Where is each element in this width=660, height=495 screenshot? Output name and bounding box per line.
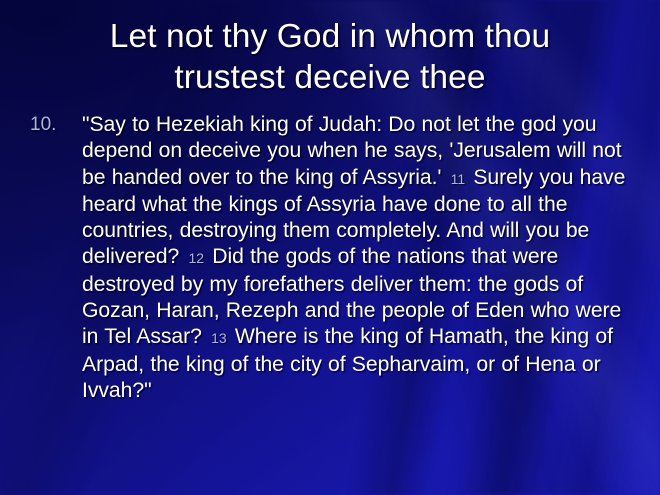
verse-number: 12 bbox=[186, 250, 206, 266]
verse-number: 13 bbox=[208, 330, 228, 346]
scripture-paragraph: "Say to Hezekiah king of Judah: Do not l… bbox=[82, 112, 634, 404]
verse-number: 11 bbox=[448, 171, 467, 187]
slide-title: Let not thy God in whom thou trustest de… bbox=[26, 16, 634, 98]
slide-content: Let not thy God in whom thou trustest de… bbox=[0, 0, 660, 495]
list-item-number: 10. bbox=[30, 112, 82, 138]
presentation-slide: Let not thy God in whom thou trustest de… bbox=[0, 0, 660, 495]
slide-body: 10. "Say to Hezekiah king of Judah: Do n… bbox=[30, 112, 634, 404]
